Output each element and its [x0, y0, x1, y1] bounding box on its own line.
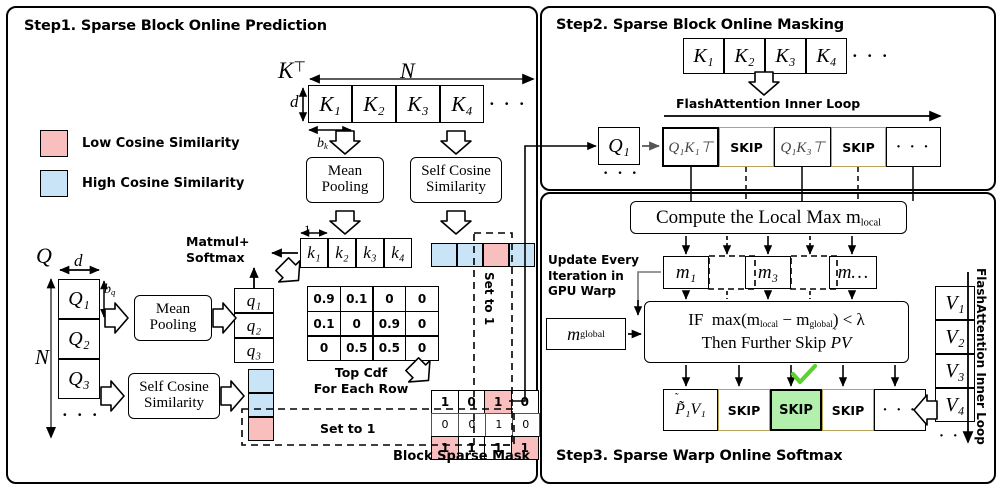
k-axis-n-label: N: [400, 58, 415, 84]
self-cosine-q-box: Self Cosine Similarity: [128, 373, 220, 419]
step2-row-cell-2-label: SKIP: [730, 140, 763, 155]
matmul-softmax-line2: Softmax: [186, 250, 245, 265]
v-block-2-label: V₂: [945, 326, 964, 349]
m-cell-2: m₃: [745, 256, 791, 289]
k-blocks-ellipsis: · · ·: [489, 94, 527, 114]
score-cell-0-0: 0.9: [307, 286, 341, 312]
output-cell-5-label: · · ·: [882, 402, 917, 419]
step2-k-block-1-label: K₁: [693, 45, 713, 68]
score-cell-0-2: 0: [372, 286, 406, 312]
self-cosine-k-line2: Similarity: [426, 180, 486, 196]
k-block-2-label: K₂: [363, 92, 384, 117]
set-to-1-horizontal-label: Set to 1: [320, 421, 375, 436]
mean-pooling-q-line2: Pooling: [150, 318, 197, 334]
output-cell-3: SKIP: [770, 389, 822, 431]
output-cell-4: SKIP: [822, 389, 874, 431]
step2-row-cell-3-label: Q₁K₃⊤: [780, 138, 824, 157]
self-cosine-k-box: Self Cosine Similarity: [410, 157, 502, 203]
q-block-3-label: Q₃: [68, 368, 89, 391]
top-cdf-line2: For Each Row: [314, 381, 409, 396]
condition-sub-local: local: [760, 320, 778, 330]
mask-cell-0-1: 0: [458, 390, 486, 414]
score-cell-2-2: 0.5: [372, 335, 406, 361]
k-pooled-axis-one: 1: [304, 222, 311, 238]
top-cdf-line1: Top Cdf: [335, 365, 387, 380]
step2-k-block-1: K₁: [683, 38, 724, 74]
matmul-softmax-line1: Matmul+: [186, 234, 250, 249]
q-block-2-label: Q₂: [68, 328, 89, 351]
m-global-sub: global: [580, 329, 605, 340]
compute-local-max-box: Compute the Local Max mlocal: [630, 201, 907, 234]
self-cosine-q-line2: Similarity: [144, 396, 204, 412]
condition-line-1: IF max(mlocal − mglobal) < λ: [688, 309, 865, 332]
step2-q-ellipsis: · · ·: [603, 165, 640, 183]
legend-label-high: High Cosine Similarity: [82, 176, 244, 191]
condition-line-2: Then Further Skip ˜PV: [702, 332, 852, 355]
q-label: Q: [36, 243, 52, 269]
q-pooled-cell-1-label: q₁: [247, 291, 261, 311]
step2-row-cell-4: SKIP: [831, 127, 886, 167]
k-block-3-label: K₃: [407, 92, 428, 117]
step2-row-cell-5-label: · · ·: [896, 139, 931, 156]
mean-pooling-k-line1: Mean: [328, 164, 362, 180]
k-pooled-cell-3-label: k₃: [363, 243, 376, 263]
condition-box: IF max(mlocal − mglobal) < λ Then Furthe…: [644, 301, 909, 363]
v-block-4: V₄: [935, 388, 975, 422]
matmul-softmax-label: Matmul+ Softmax: [186, 234, 250, 265]
step2-k-block-2-label: K₂: [734, 45, 754, 68]
q-pooled-cell-2-label: q₂: [247, 316, 261, 336]
score-cell-1-0: 0.1: [307, 311, 341, 337]
v-block-1-label: V₁: [945, 292, 964, 315]
v-block-4-label: V₄: [945, 394, 964, 417]
step1-title: Step1. Sparse Block Online Prediction: [24, 18, 327, 34]
v-block-3: V₃: [935, 354, 975, 388]
step2-k-block-3-label: K₃: [775, 45, 795, 68]
condition-ptilde-v: ˜PV: [831, 333, 852, 352]
q-pooled-cell-1: q₁: [234, 288, 274, 313]
output-cell-1: ˜P̃₁V₁: [663, 389, 718, 431]
condition-tail: ) < λ: [833, 310, 865, 329]
step2-k-block-4-label: K₄: [816, 45, 836, 68]
mean-pooling-q-line1: Mean: [156, 302, 190, 318]
v-block-3-label: V₃: [945, 360, 964, 383]
q-axis-bq-label: bq: [104, 282, 115, 298]
m-cell-3: m…: [829, 256, 877, 289]
top-cdf-label: Top Cdf For Each Row: [306, 365, 416, 398]
q-axis-d-label: d: [74, 251, 83, 271]
condition-sub-global: global: [809, 320, 832, 330]
k-pooled-cell-2: k₂: [328, 238, 356, 268]
mask-cell-0-3: 0: [511, 390, 539, 414]
m-cell-1-label: m₁: [676, 262, 696, 284]
step2-title: Step2. Sparse Block Online Masking: [556, 17, 844, 33]
output-cell-3-label: SKIP: [779, 403, 813, 418]
m-global-box: mglobal: [546, 318, 626, 350]
score-cell-2-3: 0: [405, 335, 439, 361]
score-cell-0-1: 0.1: [340, 286, 374, 312]
output-cell-1-label: P̃₁V₁: [675, 401, 706, 418]
score-cell-1-2: 0.9: [372, 311, 406, 337]
k-pooled-cell-4-label: k₄: [391, 243, 404, 263]
k-block-4-label: K₄: [451, 92, 472, 117]
score-cell-2-0: 0: [307, 335, 341, 361]
condition-if-keyword: IF: [688, 310, 703, 329]
score-cell-1-3: 0: [405, 311, 439, 337]
condition-then-text: Then Further Skip: [702, 333, 831, 352]
m-global-label: m: [567, 324, 580, 345]
output-cell-2: SKIP: [718, 389, 770, 431]
k-sim-cell-2: [457, 243, 483, 267]
step2-k-ellipsis: · · ·: [852, 46, 890, 66]
step2-q-block: Q₁: [598, 127, 640, 165]
q-block-1: Q₁: [58, 279, 100, 319]
score-matrix: 0.9 0.1 0 0 0.1 0 0.9 0 0 0.5 0.5 0: [307, 286, 439, 361]
legend-label-low: Low Cosine Similarity: [82, 136, 240, 151]
step2-k-block-4: K₄: [806, 38, 847, 74]
k-pooled-cell-1: k₁: [300, 238, 328, 268]
k-pooled-cell-2-label: k₂: [335, 243, 348, 263]
mask-cell-1-0: 0: [431, 413, 459, 437]
step2-row-cell-5: · · ·: [886, 127, 941, 167]
k-block-4: K₄: [440, 85, 484, 123]
k-sim-cell-4: [509, 243, 535, 267]
k-pooled-cell-4: k₄: [384, 238, 412, 268]
compute-local-max-sub: local: [861, 217, 881, 228]
k-block-1-label: K₁: [319, 92, 340, 117]
k-sim-cell-3: [483, 243, 509, 267]
q-pooled-cell-3-label: q₃: [247, 341, 261, 361]
compute-local-max-text: Compute the Local Max m: [656, 207, 861, 229]
mean-pooling-k-line2: Pooling: [322, 180, 369, 196]
k-block-2: K₂: [352, 85, 396, 123]
legend: Low Cosine Similarity High Cosine Simila…: [40, 130, 244, 197]
step2-row-cell-1: Q₁K₁⊤: [662, 127, 719, 167]
step3-title: Step3. Sparse Warp Online Softmax: [556, 448, 842, 464]
q-sim-cell-2: [248, 393, 274, 417]
legend-swatch-high: [40, 170, 68, 197]
v-block-2: V₂: [935, 320, 975, 354]
mask-cell-0-2: 1: [484, 390, 512, 414]
q-block-3: Q₃: [58, 359, 100, 399]
k-axis-d-label: d: [290, 92, 299, 112]
q-axis-n-label: N: [35, 345, 49, 370]
mask-cell-0-0: 1: [431, 390, 459, 414]
m-cell-1: m₁: [663, 256, 709, 289]
k-transpose-label: K⊤: [278, 58, 306, 84]
step2-k-block-2: K₂: [724, 38, 765, 74]
v-ellipsis: · · ·: [939, 428, 974, 445]
q-sim-cell-3: [248, 417, 274, 441]
mask-cell-1-1: 0: [458, 413, 486, 437]
step2-row-cell-4-label: SKIP: [842, 140, 875, 155]
q-pooled-cell-3: q₃: [234, 338, 274, 363]
block-sparse-mask-label: Block Sparse Mask: [393, 449, 530, 464]
mask-cell-1-3: 0: [512, 413, 540, 437]
set-to-1-vertical-label: Set to 1: [482, 272, 496, 325]
step3-inner-loop-label: FlashAttention Inner Loop: [974, 268, 988, 445]
self-cosine-k-line1: Self Cosine: [421, 164, 491, 180]
k-block-3: K₃: [396, 85, 440, 123]
score-cell-2-1: 0.5: [340, 335, 374, 361]
update-note-label: Update Every Iteration in GPU Warp: [548, 253, 639, 300]
mean-pooling-q-box: Mean Pooling: [134, 295, 212, 341]
output-cell-4-label: SKIP: [832, 403, 865, 418]
k-axis-bk-label: bk: [317, 136, 328, 152]
output-cell-2-label: SKIP: [728, 403, 761, 418]
step2-row-cell-1-label: Q₁K₁⊤: [668, 138, 712, 157]
q-blocks-ellipsis: · · ·: [62, 405, 100, 425]
legend-swatch-low: [40, 130, 68, 157]
m-cell-2-label: m₃: [758, 262, 778, 284]
k-sim-cell-1: [431, 243, 457, 267]
q-pooled-cell-2: q₂: [234, 313, 274, 338]
v-block-1: V₁: [935, 286, 975, 320]
update-note-line2: Iteration in: [548, 269, 624, 283]
q-block-2: Q₂: [58, 319, 100, 359]
k-pooled-cell-1-label: k₁: [307, 243, 320, 263]
score-cell-1-1: 0: [340, 311, 374, 337]
q-sim-cell-1: [248, 369, 274, 393]
step2-k-block-3: K₃: [765, 38, 806, 74]
step2-row-cell-2: SKIP: [719, 127, 774, 167]
condition-minus: − m: [778, 310, 809, 329]
condition-expr-head: max(m: [712, 310, 760, 329]
k-pooled-cell-3: k₃: [356, 238, 384, 268]
update-note-line3: GPU Warp: [548, 284, 616, 298]
output-cell-5: · · ·: [874, 389, 926, 431]
step2-row-cell-3: Q₁K₃⊤: [774, 127, 831, 167]
step2-q-block-label: Q₁: [608, 135, 629, 158]
k-block-1: K₁: [308, 85, 352, 123]
step2-inner-loop-label: FlashAttention Inner Loop: [676, 96, 860, 111]
q-block-1-label: Q₁: [68, 288, 89, 311]
update-note-line1: Update Every: [548, 253, 639, 267]
score-cell-0-3: 0: [405, 286, 439, 312]
self-cosine-q-line1: Self Cosine: [139, 380, 209, 396]
m-cell-3-label: m…: [838, 262, 869, 284]
mask-cell-1-2: 1: [485, 413, 513, 437]
mean-pooling-k-box: Mean Pooling: [306, 157, 384, 203]
